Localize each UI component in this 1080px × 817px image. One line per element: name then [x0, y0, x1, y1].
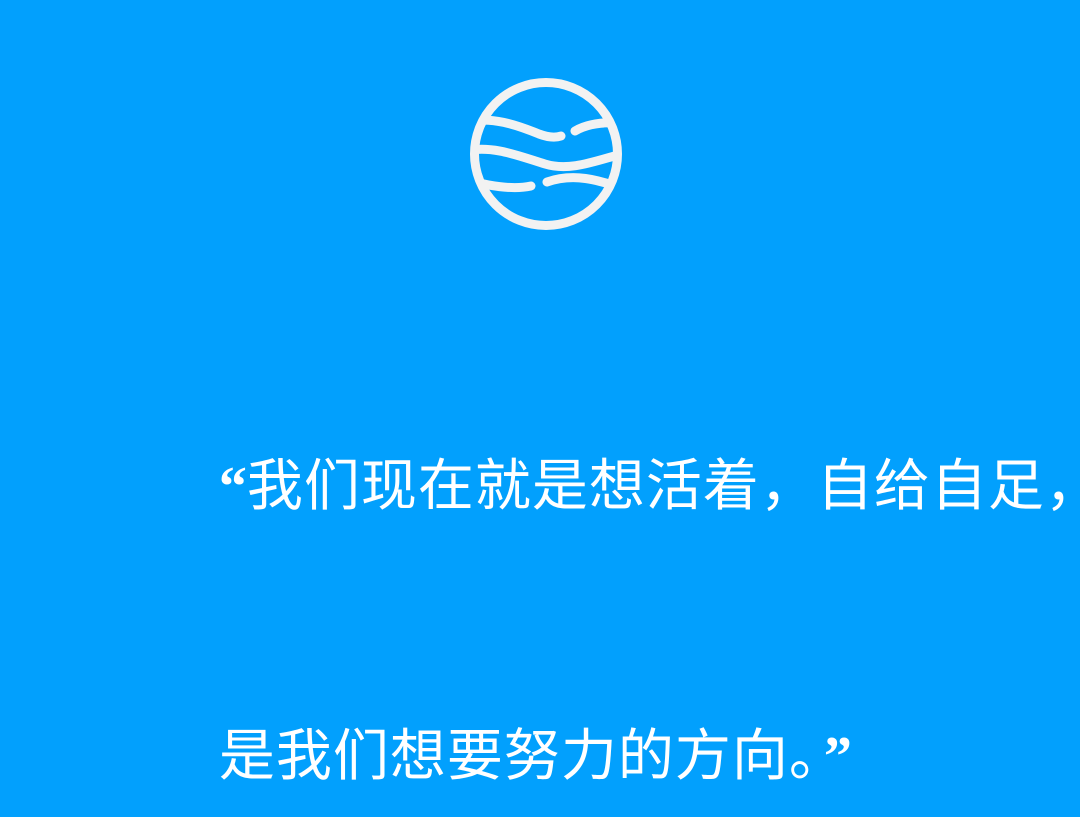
quote-line-2: 是我们想要努力的方向。”: [106, 622, 1006, 817]
wave-circle-logo: [469, 78, 623, 230]
quote-line-2-text: 是我们想要努力的方向。: [219, 724, 818, 789]
quote-slide: “我们现在就是想活着，自给自足， 是我们想要努力的方向。”: [0, 0, 1080, 817]
open-quote-mark: “: [219, 456, 247, 518]
quote-block: “我们现在就是想活着，自给自足， 是我们想要努力的方向。”: [106, 352, 1006, 817]
logo-wave-2: [469, 149, 623, 166]
quote-line-1: “我们现在就是想活着，自给自足，: [106, 352, 1006, 622]
wave-circle-logo-svg: [469, 78, 623, 230]
logo-wave-group: [469, 120, 623, 190]
quote-line-1-text: 我们现在就是想活着，自给自足，: [247, 454, 1080, 519]
close-quote-mark: ”: [818, 726, 852, 788]
